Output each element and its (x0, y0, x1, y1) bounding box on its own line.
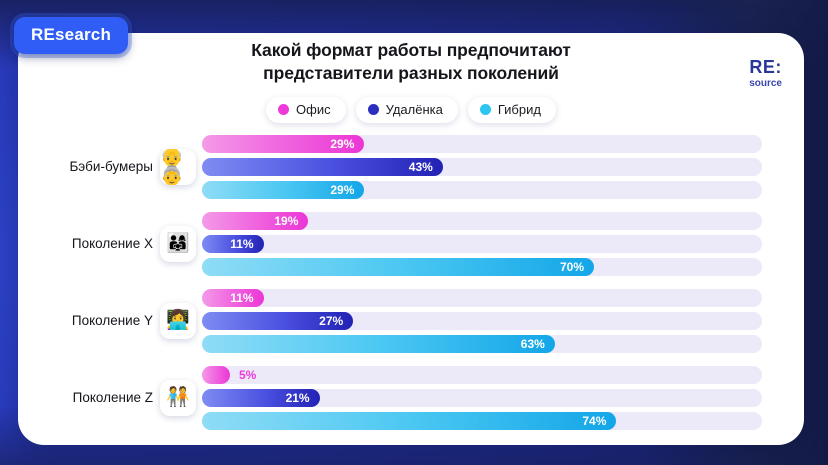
bar-fill[interactable]: 63% (202, 335, 555, 353)
bar-fill[interactable]: 29% (202, 181, 364, 199)
bar-fill[interactable]: 29% (202, 135, 364, 153)
generation-row: Поколение Z🧑‍🤝‍🧑5%21%74% (18, 359, 792, 436)
legend-color-dot (368, 104, 379, 115)
resource-logo: RE: source (749, 58, 782, 89)
legend-color-dot (278, 104, 289, 115)
bar-value-label: 43% (409, 160, 443, 174)
bar-fill[interactable]: 74% (202, 412, 616, 430)
generation-bars: 5%21%74% (202, 366, 792, 430)
legend-label: Удалёнка (386, 102, 443, 117)
infographic-card: RE: source Какой формат работы предпочит… (18, 33, 804, 445)
bar-chart: Бэби-бумеры👴👵29%43%29%Поколение X👨‍👩‍👧19… (18, 128, 804, 437)
generation-row: Поколение Y👩‍💻11%27%63% (18, 282, 792, 359)
bar-track: 11% (202, 289, 762, 307)
bar-value-label: 29% (330, 137, 364, 151)
generation-emoji-icon: 👨‍👩‍👧 (160, 226, 196, 262)
bar-track: 29% (202, 181, 762, 199)
legend-label: Гибрид (498, 102, 541, 117)
bar-fill[interactable]: 11% (202, 289, 264, 307)
generation-bars: 19%11%70% (202, 212, 792, 276)
bar-value-label: 27% (319, 314, 353, 328)
card-header: Какой формат работы предпочитают предста… (18, 33, 804, 123)
generation-bars: 11%27%63% (202, 289, 792, 353)
generation-label-group: Поколение Z🧑‍🤝‍🧑 (18, 380, 202, 416)
generation-label: Поколение Y (72, 313, 153, 328)
bar-fill[interactable]: 43% (202, 158, 443, 176)
generation-label-group: Бэби-бумеры👴👵 (18, 149, 202, 185)
bar-value-label: 21% (286, 391, 320, 405)
generation-emoji-icon: 👩‍💻 (160, 303, 196, 339)
bar-track: 74% (202, 412, 762, 430)
generation-row: Бэби-бумеры👴👵29%43%29% (18, 128, 792, 205)
generation-row: Поколение X👨‍👩‍👧19%11%70% (18, 205, 792, 282)
research-badge[interactable]: REsearch (14, 17, 128, 54)
generation-label: Поколение X (72, 236, 153, 251)
bar-track: 5% (202, 366, 762, 384)
bar-fill[interactable] (202, 366, 230, 384)
bar-fill[interactable]: 21% (202, 389, 320, 407)
generation-label-group: Поколение Y👩‍💻 (18, 303, 202, 339)
bar-track: 70% (202, 258, 762, 276)
bar-value-label: 29% (330, 183, 364, 197)
generation-emoji-icon: 🧑‍🤝‍🧑 (160, 380, 196, 416)
bar-track: 21% (202, 389, 762, 407)
bar-value-label: 19% (274, 214, 308, 228)
bar-fill[interactable]: 27% (202, 312, 353, 330)
bar-fill[interactable]: 11% (202, 235, 264, 253)
logo-sub-text: source (749, 79, 782, 89)
generation-label: Бэби-бумеры (69, 159, 153, 174)
legend-item[interactable]: Офис (266, 97, 346, 123)
page-title: Какой формат работы предпочитают предста… (18, 39, 804, 85)
generation-label: Поколение Z (73, 390, 153, 405)
bar-fill[interactable]: 70% (202, 258, 594, 276)
bar-track: 11% (202, 235, 762, 253)
bar-value-label: 11% (230, 237, 263, 251)
bar-track: 63% (202, 335, 762, 353)
bar-value-label: 63% (521, 337, 555, 351)
bar-value-label: 11% (230, 291, 263, 305)
bar-track: 27% (202, 312, 762, 330)
bar-value-label: 74% (582, 414, 616, 428)
legend-item[interactable]: Удалёнка (356, 97, 458, 123)
bar-value-label: 5% (230, 368, 256, 382)
logo-main-text: RE: (749, 58, 782, 76)
legend-label: Офис (296, 102, 331, 117)
bar-value-label: 70% (560, 260, 594, 274)
bar-track: 29% (202, 135, 762, 153)
legend-color-dot (480, 104, 491, 115)
generation-emoji-icon: 👴👵 (160, 149, 196, 185)
chart-legend: ОфисУдалёнкаГибрид (18, 97, 804, 123)
legend-item[interactable]: Гибрид (468, 97, 556, 123)
bar-track: 19% (202, 212, 762, 230)
generation-bars: 29%43%29% (202, 135, 792, 199)
bar-fill[interactable]: 19% (202, 212, 308, 230)
generation-label-group: Поколение X👨‍👩‍👧 (18, 226, 202, 262)
bar-track: 43% (202, 158, 762, 176)
